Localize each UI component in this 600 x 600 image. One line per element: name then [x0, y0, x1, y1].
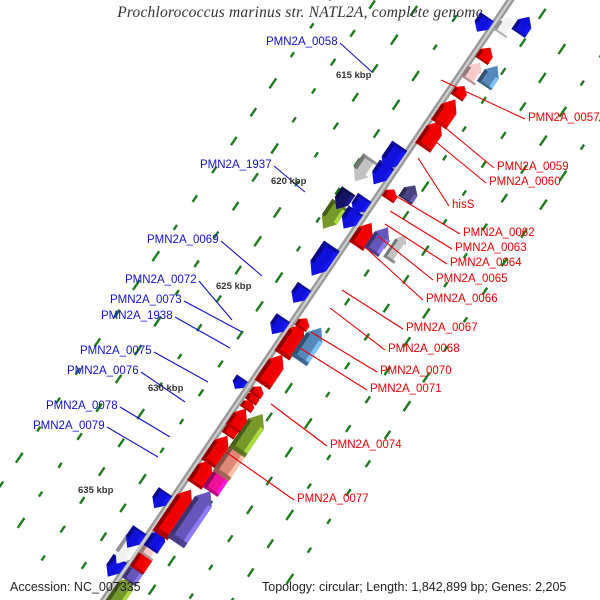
- gene-label[interactable]: PMN2A_0063: [455, 242, 527, 254]
- axis-tick-label: 615 kbp: [336, 70, 371, 81]
- gene-label[interactable]: PMN2A_0064: [450, 257, 522, 269]
- gene-label[interactable]: PMN2A_0057: [528, 112, 600, 124]
- axis-tick-label: 630 kbp: [148, 383, 183, 394]
- leader-line: [223, 450, 294, 500]
- gene-label[interactable]: PMN2A_0078: [46, 400, 118, 412]
- axis-tick-label: 625 kbp: [216, 281, 251, 292]
- gene-label[interactable]: PMN2A_0074: [330, 439, 402, 451]
- gene-label[interactable]: PMN2A_1938: [101, 310, 173, 322]
- gene-label[interactable]: PMN2A_0070: [380, 365, 452, 377]
- leader-line: [430, 137, 486, 183]
- leader-line: [340, 43, 372, 72]
- gene-label[interactable]: PMN2A_1937: [200, 159, 272, 171]
- page-title: Prochlorococcus marinus str. NATL2A, com…: [0, 4, 600, 22]
- genome-viewer-canvas[interactable]: Prochlorococcus marinus str. NATL2A, com…: [0, 0, 600, 600]
- leader-line: [271, 404, 327, 446]
- gene-label[interactable]: PMN2A_0072: [125, 274, 197, 286]
- gene-label[interactable]: PMN2A_0069: [147, 234, 219, 246]
- gene-label[interactable]: hisS: [452, 199, 474, 211]
- gene-label[interactable]: PMN2A_0076: [67, 365, 139, 377]
- gene-label[interactable]: PMN2A_0068: [388, 343, 460, 355]
- leader-line: [221, 241, 262, 276]
- gene-label[interactable]: PMN2A_0059: [497, 161, 569, 173]
- axis-tick-label: 635 kbp: [78, 485, 113, 496]
- gene-label[interactable]: PMN2A_0062: [463, 227, 535, 239]
- leader-line: [342, 290, 403, 329]
- gene-label[interactable]: PMN2A_0073: [110, 294, 182, 306]
- leader-line: [330, 308, 385, 350]
- gene-label[interactable]: PMN2A_0066: [426, 293, 498, 305]
- gene-label[interactable]: PMN2A_0065: [436, 273, 508, 285]
- gene-label[interactable]: PMN2A_0071: [370, 383, 442, 395]
- leader-line: [120, 407, 170, 437]
- gene-label[interactable]: PMN2A_0060: [489, 176, 561, 188]
- genome-summary-text: Topology: circular; Length: 1,842,899 bp…: [262, 580, 566, 594]
- gene-label[interactable]: PMN2A_0075: [80, 345, 152, 357]
- gene-label[interactable]: PMN2A_0067: [406, 322, 478, 334]
- gene-label[interactable]: PMN2A_0077: [297, 493, 369, 505]
- axis-tick-label: 620 kbp: [271, 176, 306, 187]
- accession-text: Accession: NC_007335: [10, 580, 141, 594]
- leader-line: [300, 348, 367, 390]
- genome-graphics: [0, 0, 600, 600]
- gene-label[interactable]: PMN2A_0058: [266, 36, 338, 48]
- leader-line: [107, 427, 158, 457]
- gene-label[interactable]: PMN2A_0079: [33, 420, 105, 432]
- leader-line: [418, 158, 449, 206]
- status-bar: Accession: NC_007335 Topology: circular;…: [0, 574, 600, 600]
